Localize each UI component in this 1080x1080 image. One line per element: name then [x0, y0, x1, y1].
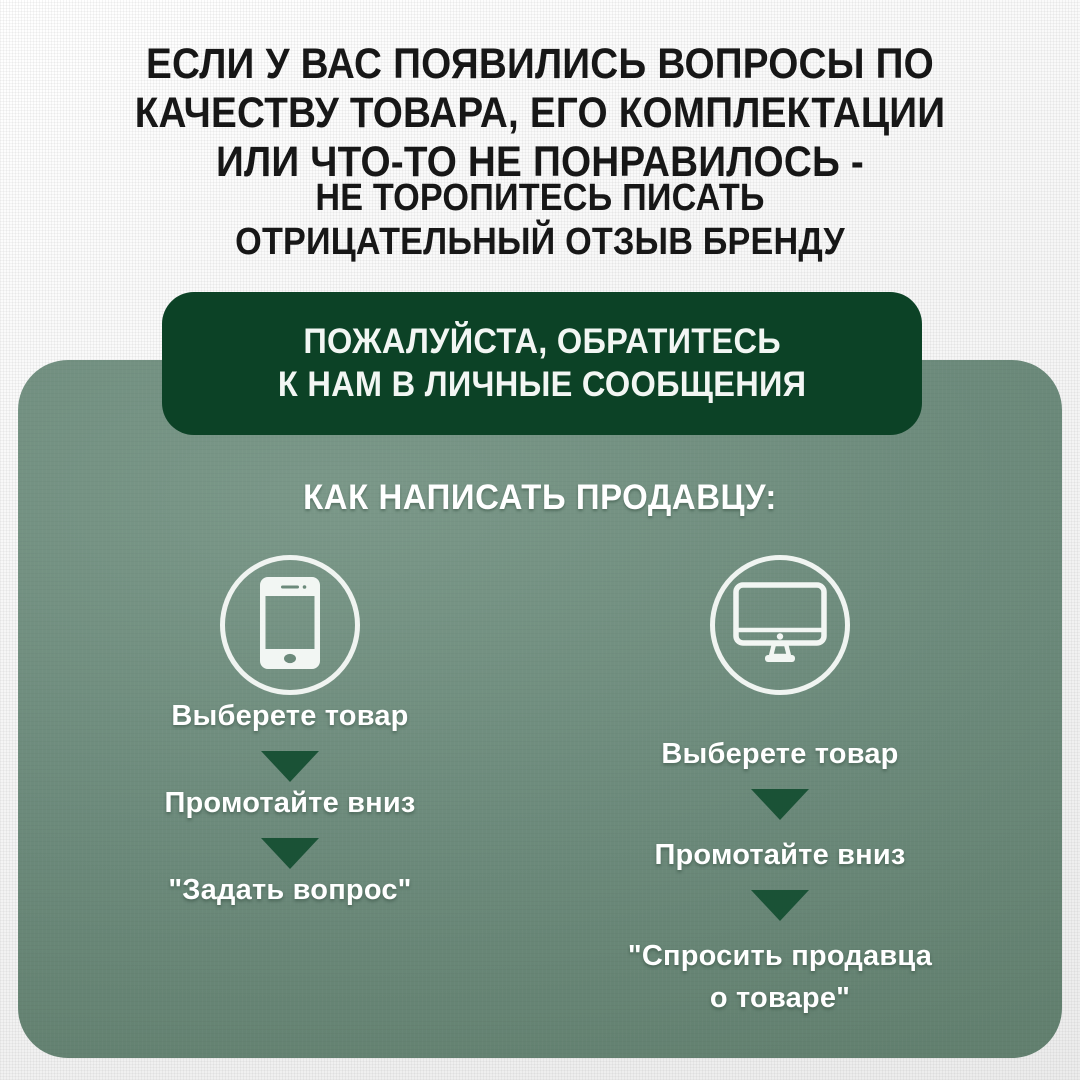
headline-primary-line-2: КАЧЕСТВУ ТОВАРА, ЕГО КОМПЛЕКТАЦИИ: [54, 89, 1026, 138]
instructions-column-desktop: Выберете товар Промотайте вниз "Спросить…: [570, 555, 990, 1019]
step-label-1: Выберете товар: [661, 733, 898, 775]
smartphone-icon-circle: [220, 555, 360, 695]
arrow-down-icon-2: [261, 838, 319, 869]
headline-secondary: НЕ ТОРОПИТЕСЬ ПИСАТЬ ОТРИЦАТЕЛЬНЫЙ ОТЗЫВ…: [54, 176, 1026, 264]
step-label-3: "Задать вопрос": [168, 869, 411, 911]
desktop-monitor-icon-circle: [710, 555, 850, 695]
instructions-column-mobile: Выберете товар Промотайте вниз "Задать в…: [80, 555, 500, 911]
arrow-down-icon-2: [751, 890, 809, 921]
smartphone-icon: [259, 577, 321, 674]
step-label-2: Промотайте вниз: [654, 834, 905, 876]
headline-primary: ЕСЛИ У ВАС ПОЯВИЛИСЬ ВОПРОСЫ ПО КАЧЕСТВУ…: [54, 40, 1026, 187]
arrow-down-icon-1: [261, 751, 319, 782]
step-label-3: "Спросить продавца о товаре": [628, 935, 932, 1019]
step-label-1: Выберете товар: [171, 695, 408, 737]
arrow-down-icon-1: [751, 789, 809, 820]
cta-banner: ПОЖАЛУЙСТА, ОБРАТИТЕСЬ К НАМ В ЛИЧНЫЕ СО…: [162, 292, 922, 435]
section-subtitle: КАК НАПИСАТЬ ПРОДАВЦУ:: [32, 478, 1047, 518]
headline-secondary-line-2: ОТРИЦАТЕЛЬНЫЙ ОТЗЫВ БРЕНДУ: [54, 220, 1026, 264]
headline-secondary-line-1: НЕ ТОРОПИТЕСЬ ПИСАТЬ: [54, 176, 1026, 220]
poster-canvas: ЕСЛИ У ВАС ПОЯВИЛИСЬ ВОПРОСЫ ПО КАЧЕСТВУ…: [0, 0, 1080, 1080]
cta-banner-line-1: ПОЖАЛУЙСТА, ОБРАТИТЕСЬ: [278, 321, 806, 364]
step-label-2: Промотайте вниз: [164, 782, 415, 824]
desktop-monitor-icon: [733, 582, 827, 669]
cta-banner-text: ПОЖАЛУЙСТА, ОБРАТИТЕСЬ К НАМ В ЛИЧНЫЕ СО…: [278, 321, 806, 406]
cta-banner-line-2: К НАМ В ЛИЧНЫЕ СООБЩЕНИЯ: [278, 364, 806, 407]
headline-primary-line-1: ЕСЛИ У ВАС ПОЯВИЛИСЬ ВОПРОСЫ ПО: [54, 40, 1026, 89]
